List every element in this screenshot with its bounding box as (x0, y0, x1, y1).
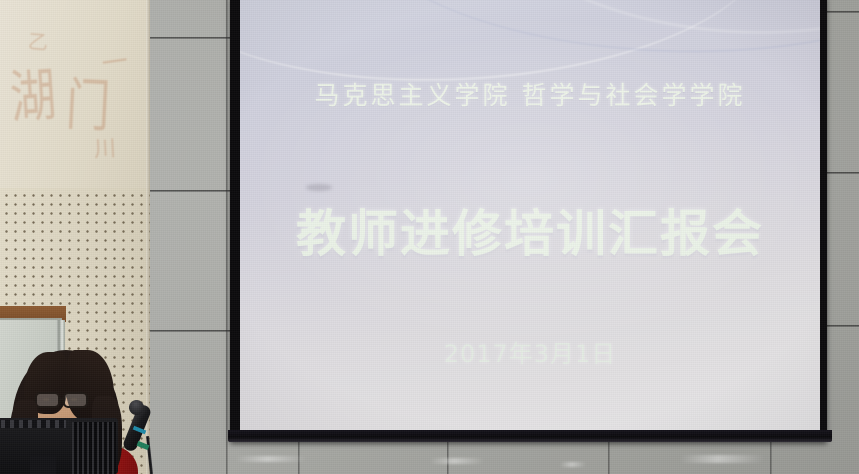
side-wall-plain-section (0, 0, 150, 190)
screen-smudge (306, 184, 332, 191)
glasses-lens-right (63, 392, 88, 408)
slide-date: 2017年3月1日 (240, 334, 820, 369)
slide-subtitle: 马克思主义学院 哲学与社会学学院 (240, 76, 820, 112)
wall-seam-right-3 (826, 325, 859, 327)
slide-swoosh-3 (459, 0, 820, 54)
wall-seam-left-vertical (226, 0, 228, 474)
lower-panel-seam-4 (770, 440, 772, 474)
wall-seam-right-1 (826, 11, 859, 13)
lower-panel-seam-2 (447, 440, 449, 474)
lower-panel-seam-3 (608, 440, 610, 474)
slide-swoosh-2 (346, 0, 820, 63)
wall-seam-left-2 (148, 190, 234, 192)
lower-panel-seam-1 (298, 440, 300, 474)
wall-seam-left-1 (148, 37, 234, 39)
wall-seam-right-2 (826, 172, 859, 174)
projection-screen-bottom-bar (228, 430, 832, 442)
monitor-vents (72, 422, 116, 474)
monitor-stand (30, 456, 56, 474)
room-photo-scene: 湖 门 一 乙 川 马克思主义学院 哲学与社会学学院 教师进修培训汇报会 201… (0, 0, 859, 474)
projection-screen[interactable]: 马克思主义学院 哲学与社会学学院 教师进修培训汇报会 2017年3月1日 (240, 0, 820, 432)
monitor-top-strip (0, 420, 66, 428)
glasses-lens-left (35, 392, 60, 408)
side-wall-edge (146, 0, 150, 474)
wall-seam-left-3 (148, 330, 234, 332)
slide-title: 教师进修培训汇报会 (240, 194, 820, 266)
glasses-bridge (60, 398, 65, 400)
